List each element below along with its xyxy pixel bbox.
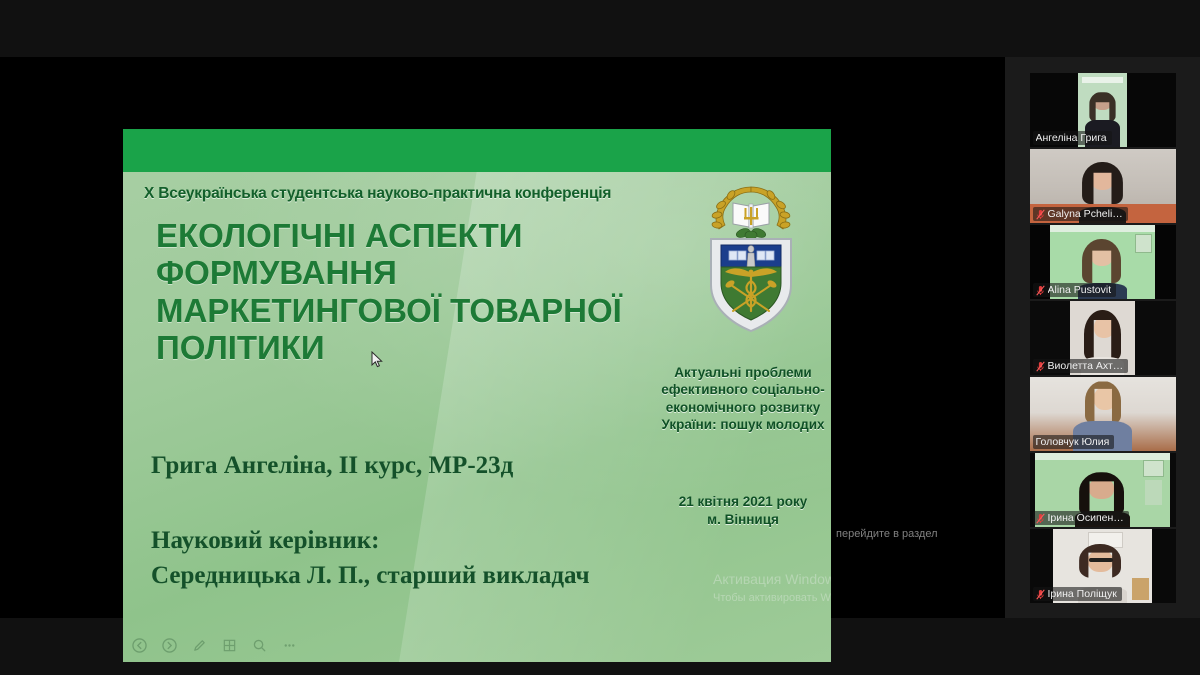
participant-filmstrip[interactable]: Ангеліна Грига Galyna Pcheli… bbox=[1005, 57, 1200, 618]
participant-tile[interactable]: Galyna Pcheli… bbox=[1030, 149, 1176, 223]
participant-name-badge: Виолетта Ахт… bbox=[1033, 359, 1129, 373]
powerpoint-slideshow-controls[interactable] bbox=[131, 637, 298, 654]
supervisor-block: Науковий керівник: Середницька Л. П., ст… bbox=[151, 524, 590, 593]
shared-slide[interactable]: X Всеукраїнська студентська науково-прак… bbox=[123, 129, 831, 662]
conference-date: 21 квітня 2021 року bbox=[679, 494, 808, 509]
muted-microphone-icon bbox=[1036, 513, 1045, 524]
conference-date-block: 21 квітня 2021 року м. Вінниця bbox=[653, 493, 831, 528]
participant-tile[interactable]: Alina Pustovit bbox=[1030, 225, 1176, 299]
university-coat-of-arms-icon bbox=[691, 177, 811, 337]
supervisor-name: Середницька Л. П., старший викладач bbox=[151, 559, 590, 594]
page-title: ЕКОЛОГІЧНІ АСПЕКТИ ФОРМУВАННЯ МАРКЕТИНГО… bbox=[156, 217, 676, 366]
pen-icon[interactable] bbox=[191, 637, 208, 654]
muted-microphone-icon bbox=[1036, 361, 1045, 372]
conference-city: м. Вінниця bbox=[653, 511, 831, 529]
grid-icon[interactable] bbox=[221, 637, 238, 654]
windows-activation-watermark: Активация Windows Чтобы активировать Win… bbox=[713, 569, 831, 607]
participant-tile[interactable]: Ангеліна Грига bbox=[1030, 73, 1176, 147]
participant-tile[interactable]: Головчук Юлия bbox=[1030, 377, 1176, 451]
participant-name-badge: Alina Pustovit bbox=[1033, 283, 1117, 297]
participant-name: Головчук Юлия bbox=[1036, 436, 1110, 448]
author-line: Грига Ангеліна, II курс, МР-23д bbox=[151, 452, 513, 480]
participant-tile[interactable]: Ірина Осипен… bbox=[1030, 453, 1176, 527]
watermark-title: Активация Windows bbox=[713, 569, 831, 590]
participant-name: Ірина Поліщук bbox=[1048, 588, 1117, 600]
participant-name-badge: Ірина Поліщук bbox=[1033, 587, 1122, 601]
muted-microphone-icon bbox=[1036, 209, 1045, 220]
participant-tile[interactable]: Виолетта Ахт… bbox=[1030, 301, 1176, 375]
magnifier-icon[interactable] bbox=[251, 637, 268, 654]
participant-name: Виолетта Ахт… bbox=[1048, 360, 1124, 372]
participant-name-badge: Galyna Pcheli… bbox=[1033, 207, 1128, 221]
participant-name: Ірина Осипен… bbox=[1048, 512, 1124, 524]
participant-name: Alina Pustovit bbox=[1048, 284, 1112, 296]
zoom-meeting-window: X Всеукраїнська студентська науково-прак… bbox=[0, 0, 1200, 675]
supervisor-label: Науковий керівник: bbox=[151, 524, 590, 559]
participant-name-badge: Головчук Юлия bbox=[1033, 435, 1115, 449]
muted-microphone-icon bbox=[1036, 285, 1045, 296]
conference-subject-block: Актуальні проблеми ефективного соціально… bbox=[653, 364, 831, 433]
slide-top-green-band bbox=[123, 129, 831, 172]
muted-microphone-icon bbox=[1036, 589, 1045, 600]
participant-name: Ангеліна Грига bbox=[1036, 132, 1107, 144]
ellipsis-icon[interactable] bbox=[281, 637, 298, 654]
participant-name-badge: Ангеліна Грига bbox=[1033, 131, 1112, 145]
watermark-subtitle: Чтобы активировать Windows, перейдите в … bbox=[713, 590, 831, 607]
chevron-left-icon[interactable] bbox=[131, 637, 148, 654]
shared-screen-area: X Всеукраїнська студентська науково-прак… bbox=[0, 57, 1005, 618]
participant-name-badge: Ірина Осипен… bbox=[1033, 511, 1129, 525]
participant-tile[interactable]: Ірина Поліщук bbox=[1030, 529, 1176, 603]
conference-subtitle: X Всеукраїнська студентська науково-прак… bbox=[144, 185, 611, 203]
participant-name: Galyna Pcheli… bbox=[1048, 208, 1123, 220]
chevron-right-icon[interactable] bbox=[161, 637, 178, 654]
